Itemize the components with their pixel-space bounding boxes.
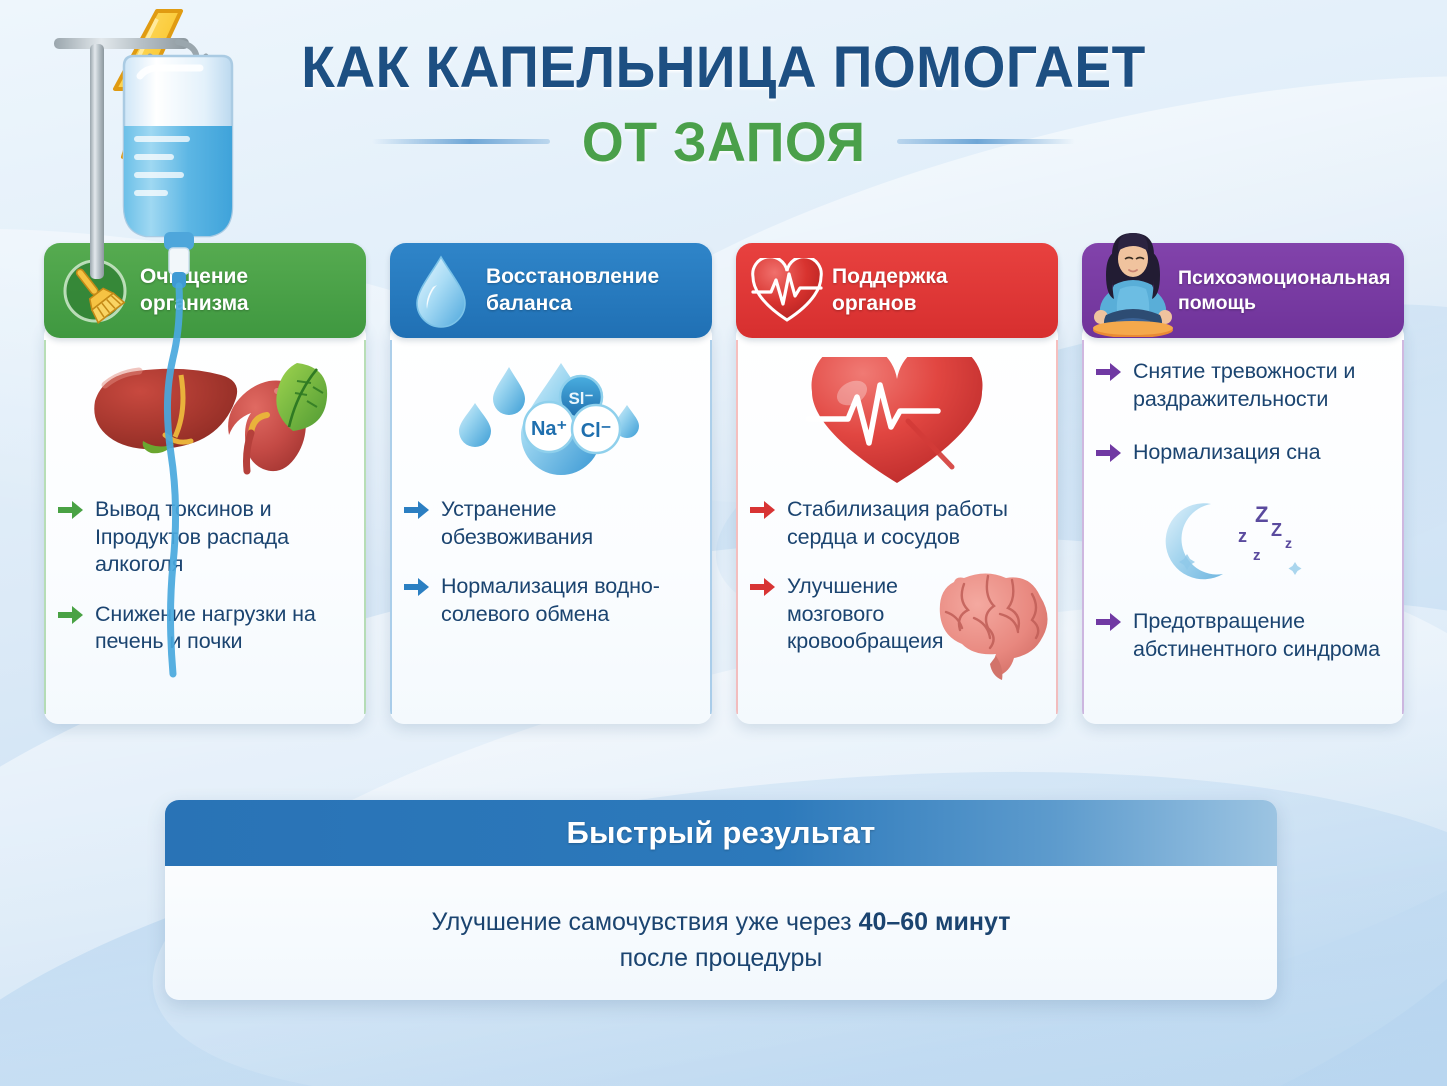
card-balance: Восстановление баланса — [390, 243, 712, 724]
meditating-woman-icon — [1086, 229, 1180, 337]
banner-subtext: Улучшение самочувствия уже через 40–60 м… — [165, 904, 1277, 977]
banner-subtext-line1: Улучшение самочувствия уже через 40–60 м… — [165, 904, 1277, 940]
list-item-label: Устранение обезвоживания — [441, 496, 698, 551]
card-header-balance: Восстановление баланса — [390, 243, 712, 338]
card-psycho: Психоэмоциональная помощь Снятие тревожн… — [1082, 243, 1404, 724]
list-item-label: Улучшение мозгового кровообращеия — [787, 573, 957, 656]
bullet-list-balance: Устранение обезвоживания Нормализация во… — [404, 496, 698, 628]
fast-result-banner: Быстрый результат Улучшение самочувствия… — [165, 800, 1277, 1000]
arrow-right-icon — [750, 500, 776, 525]
zzz-letter: Z — [1271, 520, 1282, 540]
list-item-label: Предотвращение абстинентного синдрома — [1133, 608, 1390, 663]
zzz-letter: z — [1285, 535, 1292, 551]
page-subtitle: ОТ ЗАПОЯ — [582, 109, 866, 174]
heart-pulse-icon — [748, 252, 826, 330]
heart-pulse-illustration — [750, 352, 1044, 494]
zzz-letter: z — [1238, 526, 1247, 546]
zzz-letter: z — [1253, 547, 1261, 564]
arrow-right-icon — [404, 577, 430, 602]
card-body-balance: Sl⁻ Na⁺ Cl⁻ Устранение о — [390, 322, 712, 724]
divider-right — [897, 139, 1075, 144]
list-item-label: Стабилизация работы сердца и сосудов — [787, 496, 1044, 551]
bullet-list-psycho: Снятие тревожности и раздражительности Н… — [1096, 358, 1390, 663]
list-item: Устранение обезвоживания — [404, 496, 698, 551]
banner-strip: Быстрый результат — [165, 800, 1277, 866]
list-item: Нормализация водно-солевого обмена — [404, 573, 698, 628]
arrow-right-icon — [404, 500, 430, 525]
banner-title: Быстрый результат — [567, 815, 876, 851]
banner-text-before: Улучшение самочувствия уже через — [432, 908, 859, 936]
water-drop-icon — [402, 252, 480, 330]
divider-left — [372, 139, 550, 144]
arrow-right-icon — [1096, 443, 1122, 468]
iv-drip-stand-icon — [28, 8, 258, 773]
bullet-list-organs: Стабилизация работы сердца и сосудов Улу… — [750, 496, 1044, 656]
banner-highlight: 40–60 минут — [859, 908, 1011, 936]
banner-subtext-line2: после процедуры — [165, 940, 1277, 976]
list-item-label: Снятие тревожности и раздражительности — [1133, 358, 1390, 413]
card-organs: Поддержка органов — [736, 243, 1058, 724]
water-drops-electrolytes-illustration: Sl⁻ Na⁺ Cl⁻ — [404, 352, 698, 494]
list-item: Нормализация сна — [1096, 439, 1390, 468]
list-item-label: Нормализация сна — [1133, 439, 1320, 467]
card-title-psycho: Психоэмоциональная помощь — [1178, 266, 1390, 315]
card-title-organs: Поддержка органов — [832, 264, 948, 317]
card-body-organs: Стабилизация работы сердца и сосудов Улу… — [736, 322, 1058, 724]
list-item: Предотвращение абстинентного синдрома — [1096, 608, 1390, 663]
electrolyte-label-na: Na⁺ — [531, 418, 567, 440]
sleeping-moon-zzz-illustration: Z Z z z z — [1096, 496, 1390, 582]
list-item: Улучшение мозгового кровообращеия — [750, 573, 1044, 656]
list-item: Стабилизация работы сердца и сосудов — [750, 496, 1044, 551]
card-body-psycho: Снятие тревожности и раздражительности Н… — [1082, 322, 1404, 724]
arrow-right-icon — [1096, 362, 1122, 387]
zzz-letter: Z — [1255, 502, 1268, 527]
card-header-psycho: Психоэмоциональная помощь — [1082, 243, 1404, 338]
list-item: Снятие тревожности и раздражительности — [1096, 358, 1390, 413]
card-title-balance: Восстановление баланса — [486, 264, 659, 317]
card-header-organs: Поддержка органов — [736, 243, 1058, 338]
infographic-poster: КАК КАПЕЛЬНИЦА ПОМОГАЕТ ОТ ЗАПОЯ — [0, 0, 1447, 1086]
list-item-label: Нормализация водно-солевого обмена — [441, 573, 698, 628]
arrow-right-icon — [750, 577, 776, 602]
arrow-right-icon — [1096, 612, 1122, 637]
electrolyte-label-cl: Cl⁻ — [581, 420, 612, 442]
